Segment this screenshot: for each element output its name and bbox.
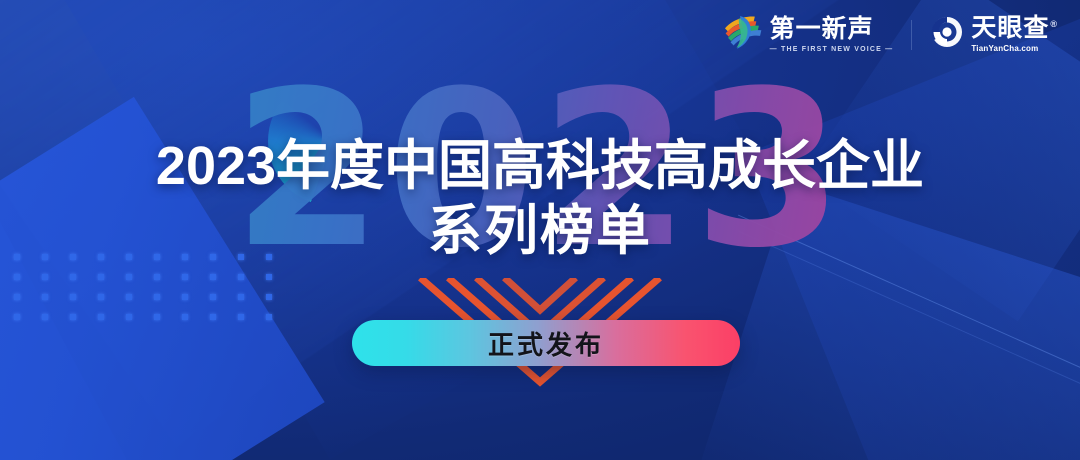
grid-dot [154, 314, 160, 320]
promo-banner: 2023 2023年度中国高科技高成长企业 系列榜单 正式发布 [0, 0, 1080, 460]
grid-dot [14, 294, 20, 300]
grid-dot [182, 294, 188, 300]
title-line-2: 系列榜单 [0, 200, 1080, 262]
logo-divider [911, 20, 912, 50]
grid-dot [210, 294, 216, 300]
logo-tianyancha[interactable]: 天眼查® TianYanCha.com [930, 15, 1058, 54]
grid-dot [14, 314, 20, 320]
grid-dot [126, 314, 132, 320]
grid-dot [98, 314, 104, 320]
logo-diyi-xinsheng-en: — THE FIRST NEW VOICE — [770, 46, 894, 53]
logo-tianyancha-cn: 天眼查® [971, 16, 1058, 41]
logo-diyi-xinsheng-text: 第一新声 — THE FIRST NEW VOICE — [770, 17, 894, 53]
release-status-label: 正式发布 [488, 325, 604, 362]
swirl-ribbon-logo-icon [723, 14, 763, 55]
grid-dot [210, 314, 216, 320]
logo-tianyancha-text: 天眼查® TianYanCha.com [971, 16, 1058, 53]
grid-dot [126, 294, 132, 300]
grid-dot [70, 314, 76, 320]
grid-dot [238, 314, 244, 320]
grid-dot [266, 314, 272, 320]
logo-tianyancha-en: TianYanCha.com [971, 45, 1058, 53]
trademark-icon: ® [1050, 19, 1058, 29]
grid-dot [42, 314, 48, 320]
grid-dot [182, 314, 188, 320]
title-line-1: 2023年度中国高科技高成长企业 [0, 136, 1080, 196]
eye-aperture-logo-icon [930, 15, 964, 54]
logo-row: 第一新声 — THE FIRST NEW VOICE — 天眼查® TianYa… [723, 14, 1058, 55]
release-status-pill[interactable]: 正式发布 [352, 320, 740, 366]
grid-dot [70, 294, 76, 300]
grid-dot [42, 294, 48, 300]
logo-diyi-xinsheng[interactable]: 第一新声 — THE FIRST NEW VOICE — [723, 14, 894, 55]
grid-dot [154, 294, 160, 300]
page-title: 2023年度中国高科技高成长企业 系列榜单 [0, 136, 1080, 262]
logo-diyi-xinsheng-cn: 第一新声 [770, 17, 894, 42]
logo-tianyancha-cn-chars: 天眼查 [971, 14, 1049, 42]
grid-dot [98, 294, 104, 300]
